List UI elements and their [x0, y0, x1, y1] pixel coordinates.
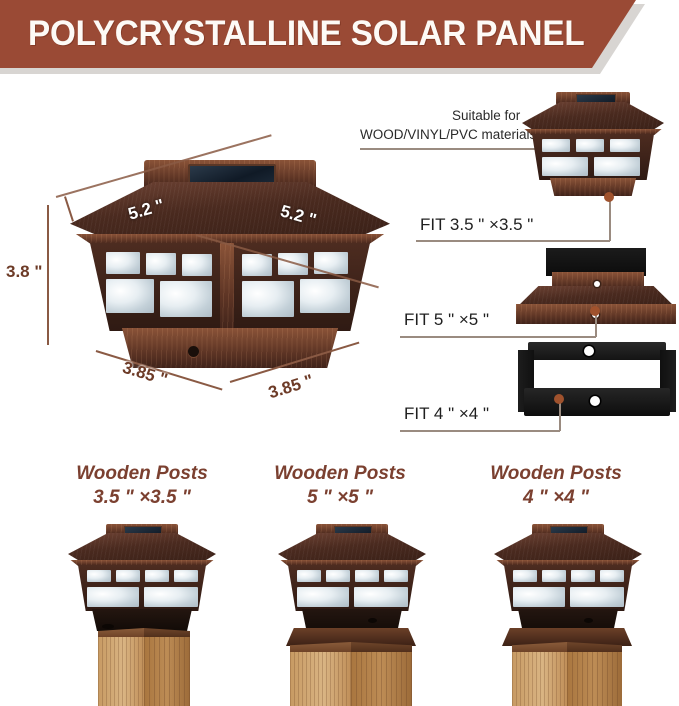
- glass-pane: [146, 253, 176, 275]
- glass-pane: [144, 587, 198, 607]
- post-image-4: [484, 524, 650, 706]
- post-face-left: [98, 637, 144, 706]
- glass-pane: [87, 570, 111, 582]
- glass-pane: [106, 279, 154, 313]
- post-face-right: [567, 652, 622, 706]
- glass-pane: [242, 254, 272, 276]
- roof-main: [68, 533, 216, 563]
- glass-pane: [116, 570, 140, 582]
- post-face-left: [290, 652, 351, 706]
- screw-hole: [188, 346, 199, 357]
- lamp-base: [550, 178, 636, 196]
- glass-pane: [87, 587, 139, 607]
- screw-hole: [584, 618, 593, 623]
- corner-post: [220, 243, 234, 331]
- fit-leader-5-h: [400, 336, 596, 338]
- fit-leader-4-h: [400, 430, 560, 432]
- post-face-right: [351, 652, 412, 706]
- wooden-post: [512, 642, 622, 706]
- lamp-body: [504, 565, 632, 611]
- glass-pane: [106, 252, 140, 274]
- lamp-body: [90, 243, 370, 331]
- roof-main: [494, 533, 642, 563]
- roof-main: [522, 102, 664, 132]
- glass-pane: [297, 587, 349, 607]
- glass-pane: [242, 281, 294, 317]
- dimension-arrow-height: [47, 205, 49, 345]
- glass-pane: [542, 139, 570, 152]
- lamp-body: [288, 565, 416, 611]
- fit-label-5: FIT 5 " ×5 ": [404, 310, 489, 330]
- glass-pane: [571, 570, 595, 582]
- dimension-label-base-right: 3.85 ": [266, 371, 316, 404]
- glass-pane: [570, 587, 624, 607]
- glass-pane: [297, 570, 321, 582]
- product-solar-cap-light: [518, 92, 668, 197]
- glass-pane: [594, 157, 640, 176]
- screw-hole: [368, 618, 377, 623]
- lamp-body: [78, 565, 206, 611]
- fit-label-3-5: FIT 3.5 " ×3.5 ": [420, 215, 533, 235]
- glass-pane: [600, 570, 624, 582]
- glass-pane: [513, 570, 537, 582]
- post-title-35-line1: Wooden Posts: [42, 462, 242, 486]
- screw-hole: [594, 281, 600, 287]
- fit-label-4: FIT 4 " ×4 ": [404, 404, 489, 424]
- dimension-label-height: 3.8 ": [6, 262, 42, 282]
- frame-back-rail: [528, 342, 666, 360]
- post-face-left: [512, 652, 567, 706]
- page-title: POLYCRYSTALLINE SOLAR PANEL: [28, 11, 560, 57]
- glass-pane: [576, 139, 604, 152]
- post-title-4-line1: Wooden Posts: [456, 462, 656, 486]
- roof-main: [278, 533, 426, 563]
- glass-pane: [384, 570, 408, 582]
- post-title-5-line1: Wooden Posts: [240, 462, 440, 486]
- fit-leader-3-5-v: [609, 198, 611, 241]
- fit-anchor-3-5: [604, 192, 614, 202]
- fit-anchor-4: [554, 394, 564, 404]
- glass-pane: [610, 139, 640, 152]
- fit-anchor-5: [590, 306, 600, 316]
- post-image-35: [62, 524, 222, 706]
- glass-pane: [326, 570, 350, 582]
- wooden-post: [98, 628, 190, 706]
- post-title-4-line2: 4 " ×4 ": [456, 486, 656, 510]
- glass-pane: [542, 157, 588, 176]
- fit-leader-3-5-h: [416, 240, 610, 242]
- glass-pane: [355, 570, 379, 582]
- glass-pane: [145, 570, 169, 582]
- glass-pane: [182, 254, 212, 276]
- glass-pane: [174, 570, 198, 582]
- glass-pane: [513, 587, 565, 607]
- suitable-for-line1: Suitable for: [452, 106, 520, 125]
- glass-pane: [160, 281, 212, 317]
- fit-leader-4-v: [559, 400, 561, 431]
- suitable-for-line2: WOOD/VINYL/PVC materials: [360, 125, 536, 144]
- post-title-5-line2: 5 " ×5 ": [240, 486, 440, 510]
- post-face-right: [144, 637, 190, 706]
- post-title-35-line2: 3.5 " ×3.5 ": [42, 486, 242, 510]
- glass-pane: [354, 587, 408, 607]
- lamp-body: [532, 134, 654, 180]
- post-image-5: [268, 524, 434, 706]
- product-black-adapter-frame: [518, 342, 676, 426]
- glass-pane: [542, 570, 566, 582]
- hero-product-image: [60, 160, 390, 375]
- glass-pane: [300, 279, 350, 313]
- header-banner: POLYCRYSTALLINE SOLAR PANEL: [0, 0, 679, 76]
- roof-main: [70, 182, 390, 240]
- screw-hole: [584, 346, 594, 356]
- screw-hole: [590, 396, 600, 406]
- lamp-base: [122, 328, 338, 368]
- wooden-post: [290, 642, 412, 706]
